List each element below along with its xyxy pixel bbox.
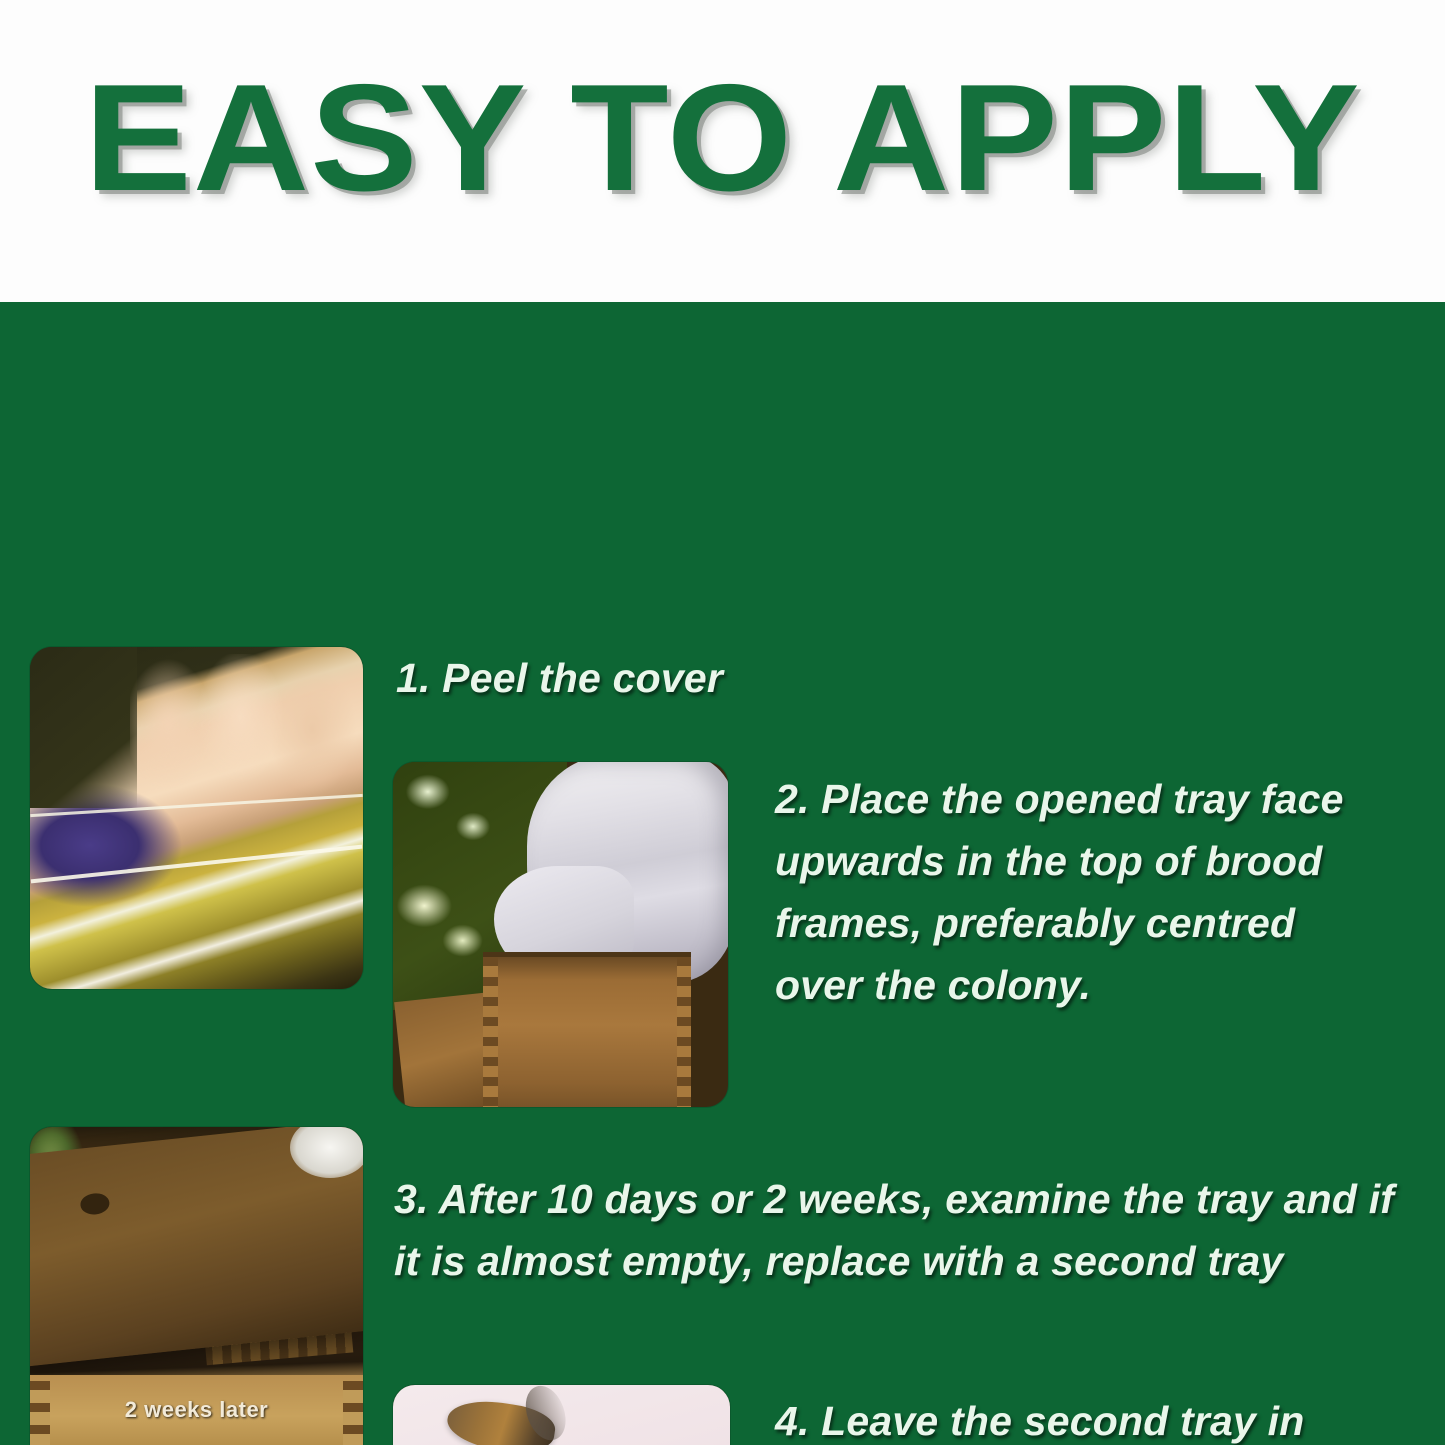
bee-upper bbox=[444, 1396, 557, 1445]
header-band: EASY TO APPLY bbox=[0, 0, 1445, 302]
photo-tray-later: 2 weeks later bbox=[30, 1127, 363, 1445]
page-title: EASY TO APPLY bbox=[0, 62, 1445, 214]
photo-tray-later-image: 2 weeks later bbox=[30, 1127, 363, 1445]
photo-beekeeper-hive bbox=[393, 762, 728, 1107]
photo-peel-cover bbox=[30, 647, 363, 989]
instructions-panel: 2 weeks later 1. Peel the cover 2. Place… bbox=[0, 302, 1445, 1445]
photo-bees-tray bbox=[393, 1385, 730, 1445]
hand-knuckles bbox=[130, 654, 363, 811]
photo-beekeeper-hive-image bbox=[393, 762, 728, 1107]
photo-caption-weeks-later: 2 weeks later bbox=[30, 1397, 363, 1423]
photo-bees-tray-image bbox=[393, 1385, 730, 1445]
step-3-text: 3. After 10 days or 2 weeks, examine the… bbox=[394, 1168, 1404, 1292]
step-4-text: 4. Leave the second tray in position for… bbox=[775, 1390, 1405, 1445]
hive-box bbox=[483, 952, 691, 1107]
step-1-text: 1. Peel the cover bbox=[396, 650, 1036, 706]
photo-peel-cover-image bbox=[30, 647, 363, 989]
poster-root: EASY TO APPLY bbox=[0, 0, 1445, 1445]
slab-knot-hole bbox=[79, 1192, 111, 1216]
tray-edge-highlight-lower bbox=[31, 845, 363, 884]
step-2-text: 2. Place the opened tray face upwards in… bbox=[775, 768, 1385, 1016]
photo-shadow-corner bbox=[30, 647, 137, 808]
